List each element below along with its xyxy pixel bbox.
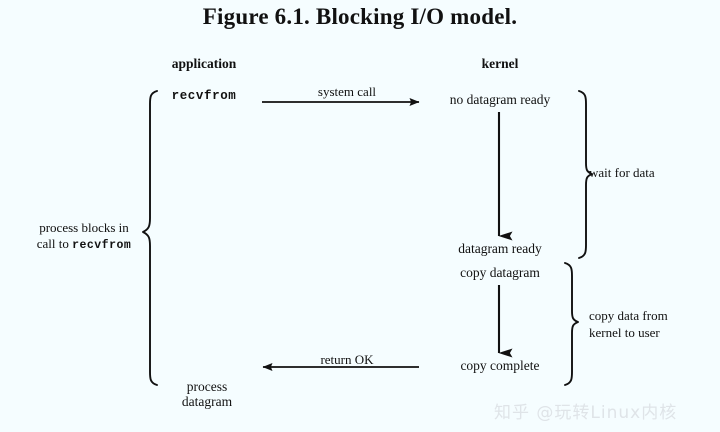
bracket-label-copy-data: copy data from kernel to user (589, 307, 719, 341)
arrow-label-system-call: system call (272, 84, 422, 100)
column-heading-application: application (140, 56, 268, 72)
node-no-datagram-ready: no datagram ready (420, 92, 580, 107)
process-blocks-line2-prefix: call to (37, 236, 72, 251)
node-recvfrom-call: recvfrom (140, 89, 268, 104)
watermark: 知乎 @玩转Linux内核 (494, 398, 677, 423)
figure-title: Figure 6.1. Blocking I/O model. (0, 4, 720, 30)
node-copy-complete: copy complete (420, 358, 580, 373)
node-datagram-ready: datagram ready (420, 241, 580, 256)
process-blocks-line1: process blocks in (20, 220, 148, 236)
process-datagram-line2: datagram (152, 394, 262, 409)
node-process-datagram: process datagram (152, 379, 262, 409)
node-copy-datagram: copy datagram (420, 265, 580, 280)
process-blocks-line2: call to recvfrom (20, 236, 148, 254)
bracket-label-wait-for-data: wait for data (589, 165, 709, 181)
process-datagram-line1: process (152, 379, 262, 394)
copy-data-line1: copy data from (589, 307, 719, 324)
bracket-label-process-blocks: process blocks in call to recvfrom (20, 220, 148, 254)
arrow-label-return-ok: return OK (282, 352, 412, 368)
figure-container: Figure 6.1. Blocking I/O model. applicat… (0, 0, 720, 432)
process-blocks-line2-mono: recvfrom (72, 239, 131, 252)
copy-data-line2: kernel to user (589, 324, 719, 341)
column-heading-kernel: kernel (436, 56, 564, 72)
